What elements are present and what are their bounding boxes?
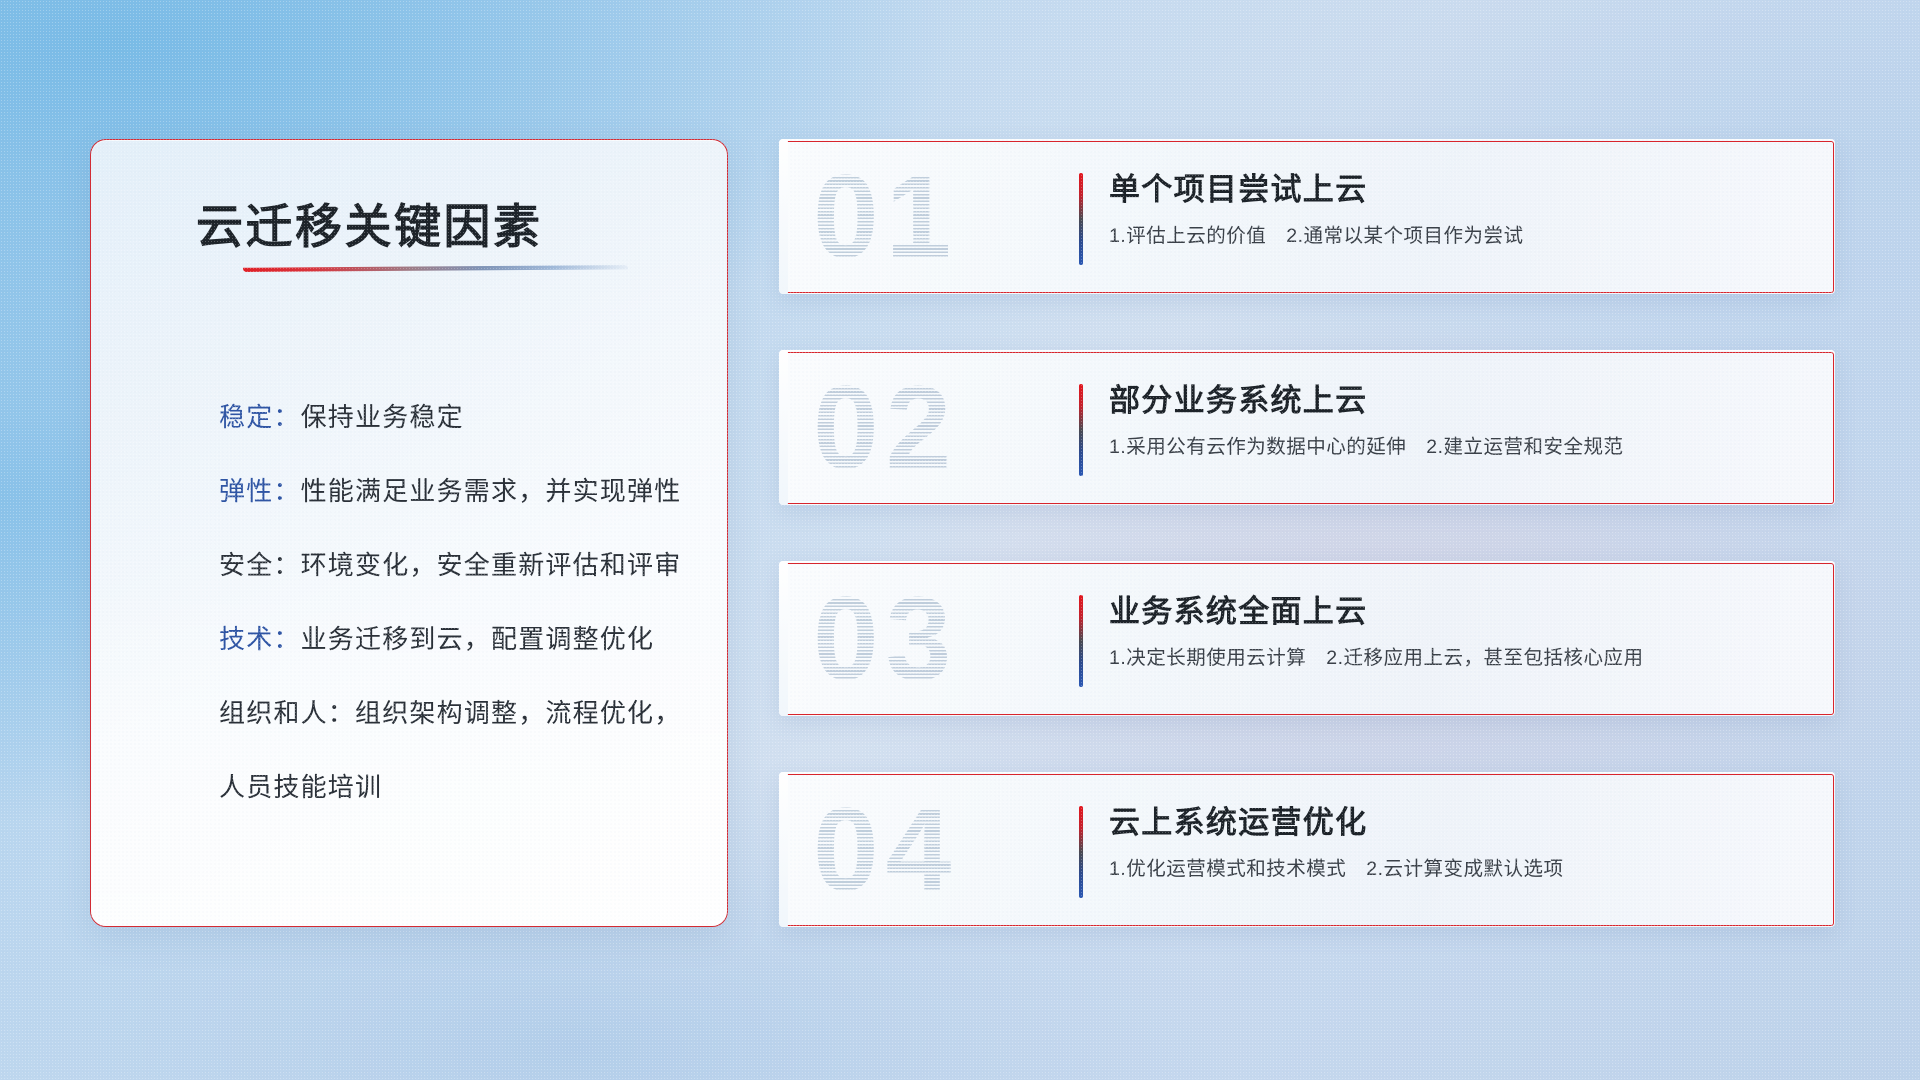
stage-card[interactable]: 03 业务系统全面上云 1.决定长期使用云计算 2.迁移应用上云，甚至包括核心应… [779,561,1835,716]
stage-card-body: 单个项目尝试上云 1.评估上云的价值 2.通常以某个项目作为尝试 [1109,169,1809,250]
stage-card-body: 部分业务系统上云 1.采用公有云作为数据中心的延伸 2.建立运营和安全规范 [1109,380,1809,461]
list-item: 技术：业务迁移到云，配置调整优化 [219,602,693,676]
stage-card-subtitle: 1.采用公有云作为数据中心的延伸 2.建立运营和安全规范 [1109,434,1809,461]
factor-label: 组织和人： [219,698,355,728]
page-title: 云迁移关键因素 [196,188,543,257]
stage-card-subtitle: 1.优化运营模式和技术模式 2.云计算变成默认选项 [1109,856,1809,883]
migration-stage-cards: 01 单个项目尝试上云 1.评估上云的价值 2.通常以某个项目作为尝试 02 部… [779,139,1835,983]
stage-card-body: 云上系统运营优化 1.优化运营模式和技术模式 2.云计算变成默认选项 [1109,802,1809,883]
factor-list: 稳定：保持业务稳定 弹性：性能满足业务需求，并实现弹性 安全：环境变化，安全重新… [219,380,693,824]
factor-text: 环境变化，安全重新评估和评审 [301,550,682,580]
stage-card-title: 云上系统运营优化 [1109,802,1809,844]
stage-accent-bar [1079,384,1083,476]
stage-card-body: 业务系统全面上云 1.决定长期使用云计算 2.迁移应用上云，甚至包括核心应用 [1109,591,1809,672]
factor-label: 安全： [219,550,301,580]
factor-label: 弹性： [219,476,301,506]
stage-number-watermark: 04 [813,786,1063,914]
stage-accent-bar [1079,173,1083,265]
factor-text: 业务迁移到云，配置调整优化 [301,624,655,654]
stage-accent-bar [1079,806,1083,898]
list-item: 稳定：保持业务稳定 [219,380,693,454]
stage-card-title: 单个项目尝试上云 [1109,169,1809,211]
factor-text: 性能满足业务需求，并实现弹性 [301,476,682,506]
slide-canvas: 云迁移关键因素 稳定：保持业务稳定 弹性：性能满足业务需求，并实现弹性 安全：环… [0,0,1920,1080]
stage-card[interactable]: 01 单个项目尝试上云 1.评估上云的价值 2.通常以某个项目作为尝试 [779,139,1835,294]
stage-card-title: 部分业务系统上云 [1109,380,1809,422]
factor-label: 稳定： [219,402,301,432]
stage-number-watermark: 01 [813,153,1063,281]
key-factors-panel: 云迁移关键因素 稳定：保持业务稳定 弹性：性能满足业务需求，并实现弹性 安全：环… [90,139,728,927]
list-item: 弹性：性能满足业务需求，并实现弹性 [219,454,693,528]
stage-card-subtitle: 1.决定长期使用云计算 2.迁移应用上云，甚至包括核心应用 [1109,645,1809,672]
stage-number-watermark: 02 [813,364,1063,492]
stage-number-watermark: 03 [813,575,1063,703]
title-underline-accent [243,265,628,272]
stage-accent-bar [1079,595,1083,687]
list-item: 组织和人：组织架构调整，流程优化，人员技能培训 [219,676,693,824]
stage-card-subtitle: 1.评估上云的价值 2.通常以某个项目作为尝试 [1109,223,1809,250]
stage-card[interactable]: 02 部分业务系统上云 1.采用公有云作为数据中心的延伸 2.建立运营和安全规范 [779,350,1835,505]
factor-label: 技术： [219,624,301,654]
list-item: 安全：环境变化，安全重新评估和评审 [219,528,693,602]
stage-card[interactable]: 04 云上系统运营优化 1.优化运营模式和技术模式 2.云计算变成默认选项 [779,772,1835,927]
stage-card-title: 业务系统全面上云 [1109,591,1809,633]
factor-text: 保持业务稳定 [301,402,464,432]
